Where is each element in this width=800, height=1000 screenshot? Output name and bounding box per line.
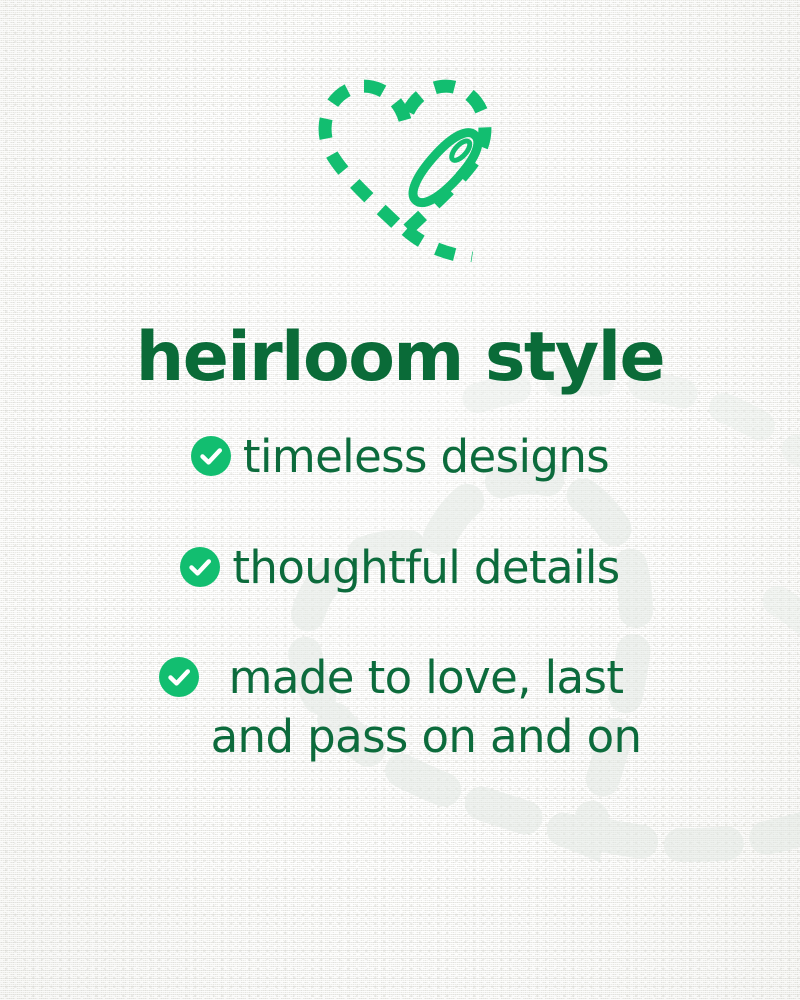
check-circle-icon (191, 436, 231, 476)
list-item: timeless designs (0, 428, 800, 487)
list-item-label: thoughtful details (232, 539, 619, 598)
list-item-label: timeless designs (243, 428, 609, 487)
check-circle-icon (159, 657, 199, 697)
check-circle-icon (180, 547, 220, 587)
page-title: heirloom style (0, 324, 800, 392)
stitched-heart-needle-icon (296, 62, 518, 262)
poster-content: heirloom style timeless designs thoughtf… (0, 0, 800, 1000)
poster-canvas: heirloom style timeless designs thoughtf… (0, 0, 800, 1000)
list-item-label: made to love, last and pass on and on (211, 649, 642, 766)
list-item: thoughtful details (0, 539, 800, 598)
list-item: made to love, last and pass on and on (0, 649, 800, 766)
benefits-list: timeless designs thoughtful details made… (0, 428, 800, 766)
